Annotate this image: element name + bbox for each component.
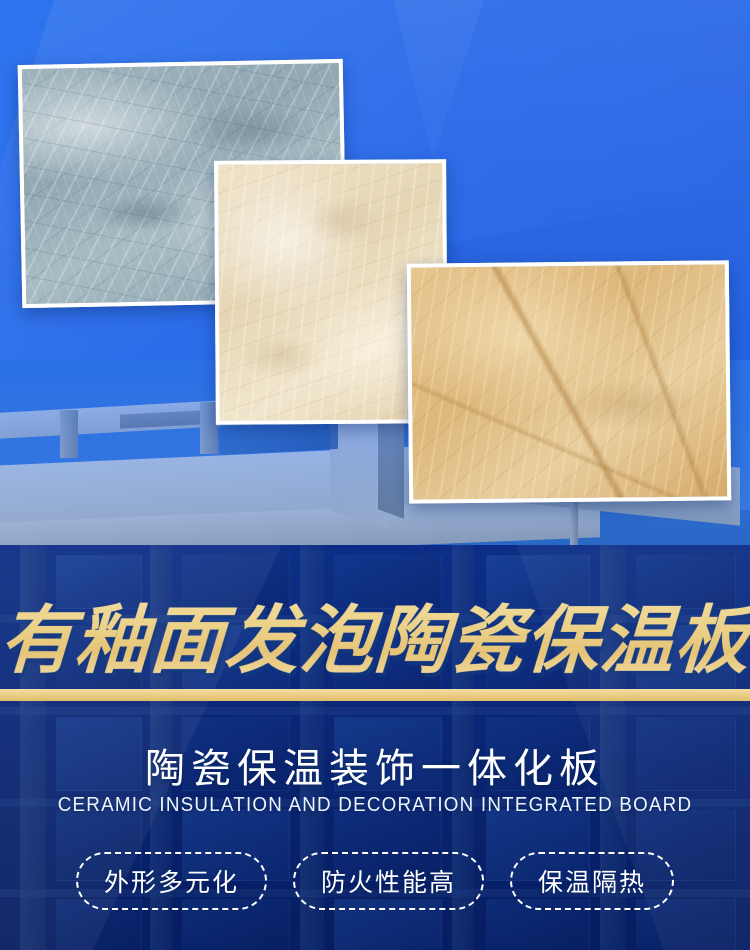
feature-tag-2[interactable]: 防火性能高 [293,852,484,910]
marble-texture-tan [411,264,727,499]
feature-tag-list: 外形多元化 防火性能高 保温隔热 [0,852,750,910]
subtitle-english: CERAMIC INSULATION AND DECORATION INTEGR… [23,794,728,817]
sample-tile-tan-marble[interactable] [407,260,731,503]
subtitle-chinese: 陶瓷保温装饰一体化板 [0,736,750,794]
feature-tag-3[interactable]: 保温隔热 [510,852,674,910]
gold-divider-bar [0,689,750,701]
feature-tag-1[interactable]: 外形多元化 [76,852,267,910]
headline-title: 有釉面发泡陶瓷保温板 [0,588,750,680]
product-banner: 有釉面发泡陶瓷保温板 陶瓷保温装饰一体化板 CERAMIC INSULATION… [0,0,750,950]
